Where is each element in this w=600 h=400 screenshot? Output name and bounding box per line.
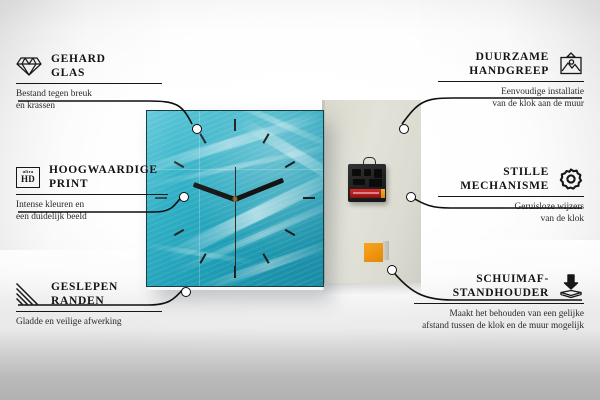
clock-minute-hand: [234, 178, 284, 202]
clock-tick: [234, 266, 236, 278]
movement-detail: [353, 179, 365, 185]
feature-stille-mechanisme[interactable]: STILLE MECHANISME Geruisloze wijzers van…: [438, 165, 584, 225]
clock-tick: [262, 133, 269, 144]
feature-title: STILLE MECHANISME: [438, 165, 549, 193]
clock-tick: [262, 253, 269, 264]
feature-divider: [438, 196, 584, 197]
feature-header: STILLE MECHANISME: [438, 165, 584, 193]
infographic-canvas: GEHARD GLAS Bestand tegen breuk en krass…: [0, 0, 600, 400]
feature-description: Intense kleuren en een duidelijk beeld: [16, 199, 168, 223]
picture-frame-icon: [558, 52, 584, 76]
print-feather: [239, 117, 324, 188]
diagonal-lines-icon: [16, 283, 42, 305]
clock-hour-hand: [193, 182, 236, 202]
clock-tick: [285, 229, 296, 236]
feature-duurzame-handgreep[interactable]: DUURZAME HANDGREEP Eenvoudige installati…: [438, 50, 584, 110]
back-panel-shadow: [322, 283, 421, 295]
connector-dot-stille-mechanisme: [406, 192, 416, 202]
connector-dot-hoogwaardige-print: [179, 192, 189, 202]
foam-spacer: [364, 243, 383, 262]
connector-dot-gehard-glas: [192, 124, 202, 134]
feature-header: GESLEPEN RANDEN: [16, 280, 162, 308]
print-feather: [146, 141, 324, 190]
glass-reflection-line: [147, 169, 323, 170]
feature-description: Eenvoudige installatie van de klok aan d…: [438, 86, 584, 110]
feature-gehard-glas[interactable]: GEHARD GLAS Bestand tegen breuk en krass…: [16, 52, 162, 112]
print-feather: [146, 242, 259, 266]
gear-icon: [558, 167, 584, 191]
feature-title: HOOGWAARDIGE PRINT: [49, 163, 158, 191]
feature-divider: [438, 81, 584, 82]
clock-tick: [199, 253, 206, 264]
feature-description: Gladde en veilige afwerking: [16, 316, 162, 328]
feature-header: GEHARD GLAS: [16, 52, 162, 80]
print-feather: [196, 237, 324, 287]
clock-center-hub: [233, 196, 238, 201]
battery-label-stripe: [353, 192, 379, 194]
feature-divider: [16, 194, 168, 195]
print-feather: [164, 164, 324, 264]
feature-geslepen-randen[interactable]: GESLEPEN RANDEN Gladde en veilige afwerk…: [16, 280, 162, 328]
feature-title: GESLEPEN RANDEN: [51, 280, 118, 308]
feature-divider: [414, 303, 584, 304]
movement-detail: [364, 169, 371, 176]
print-feather: [146, 110, 324, 178]
clock-tick: [199, 133, 206, 144]
movement-detail: [352, 169, 361, 176]
clock-tick: [285, 161, 296, 168]
clock-tick: [174, 161, 185, 168]
diamond-icon: [16, 55, 42, 77]
feature-schuimaf-standhouder[interactable]: SCHUIMAF- STANDHOUDER Maakt het behouden…: [414, 272, 584, 332]
press-down-icon: [558, 274, 584, 298]
connector-dot-schuimaf-standhouder: [387, 265, 397, 275]
feature-header: ultra HD HOOGWAARDIGE PRINT: [16, 163, 168, 191]
connector-dot-duurzame-handgreep: [399, 124, 409, 134]
feature-header: SCHUIMAF- STANDHOUDER: [414, 272, 584, 300]
movement-detail: [374, 169, 382, 178]
foam-spacer-shadow: [383, 241, 389, 260]
feature-hoogwaardige-print[interactable]: ultra HD HOOGWAARDIGE PRINT Intense kleu…: [16, 163, 168, 223]
feature-title: SCHUIMAF- STANDHOUDER: [414, 272, 549, 300]
feature-description: Maakt het behouden van een gelijke afsta…: [414, 308, 584, 332]
connector-dot-geslepen-randen: [181, 287, 191, 297]
clock-tick: [303, 197, 315, 199]
feature-title: DUURZAME HANDGREEP: [438, 50, 549, 78]
movement-detail: [369, 179, 382, 187]
clock-tick: [234, 119, 236, 131]
print-feather: [173, 194, 324, 275]
battery-positive-cap: [381, 189, 385, 198]
feature-description: Geruisloze wijzers van de klok: [438, 201, 584, 225]
clock-tick: [174, 229, 185, 236]
feature-title: GEHARD GLAS: [51, 52, 106, 80]
feature-header: DUURZAME HANDGREEP: [438, 50, 584, 78]
ultra-hd-icon: ultra HD: [16, 167, 40, 188]
clock-second-hand: [235, 167, 237, 275]
feature-divider: [16, 83, 162, 84]
feature-divider: [16, 311, 162, 312]
print-feather: [212, 110, 324, 153]
feature-description: Bestand tegen breuk en krassen: [16, 88, 162, 112]
glass-reflection-line: [199, 111, 200, 286]
glass-clock-panel: [146, 110, 324, 287]
